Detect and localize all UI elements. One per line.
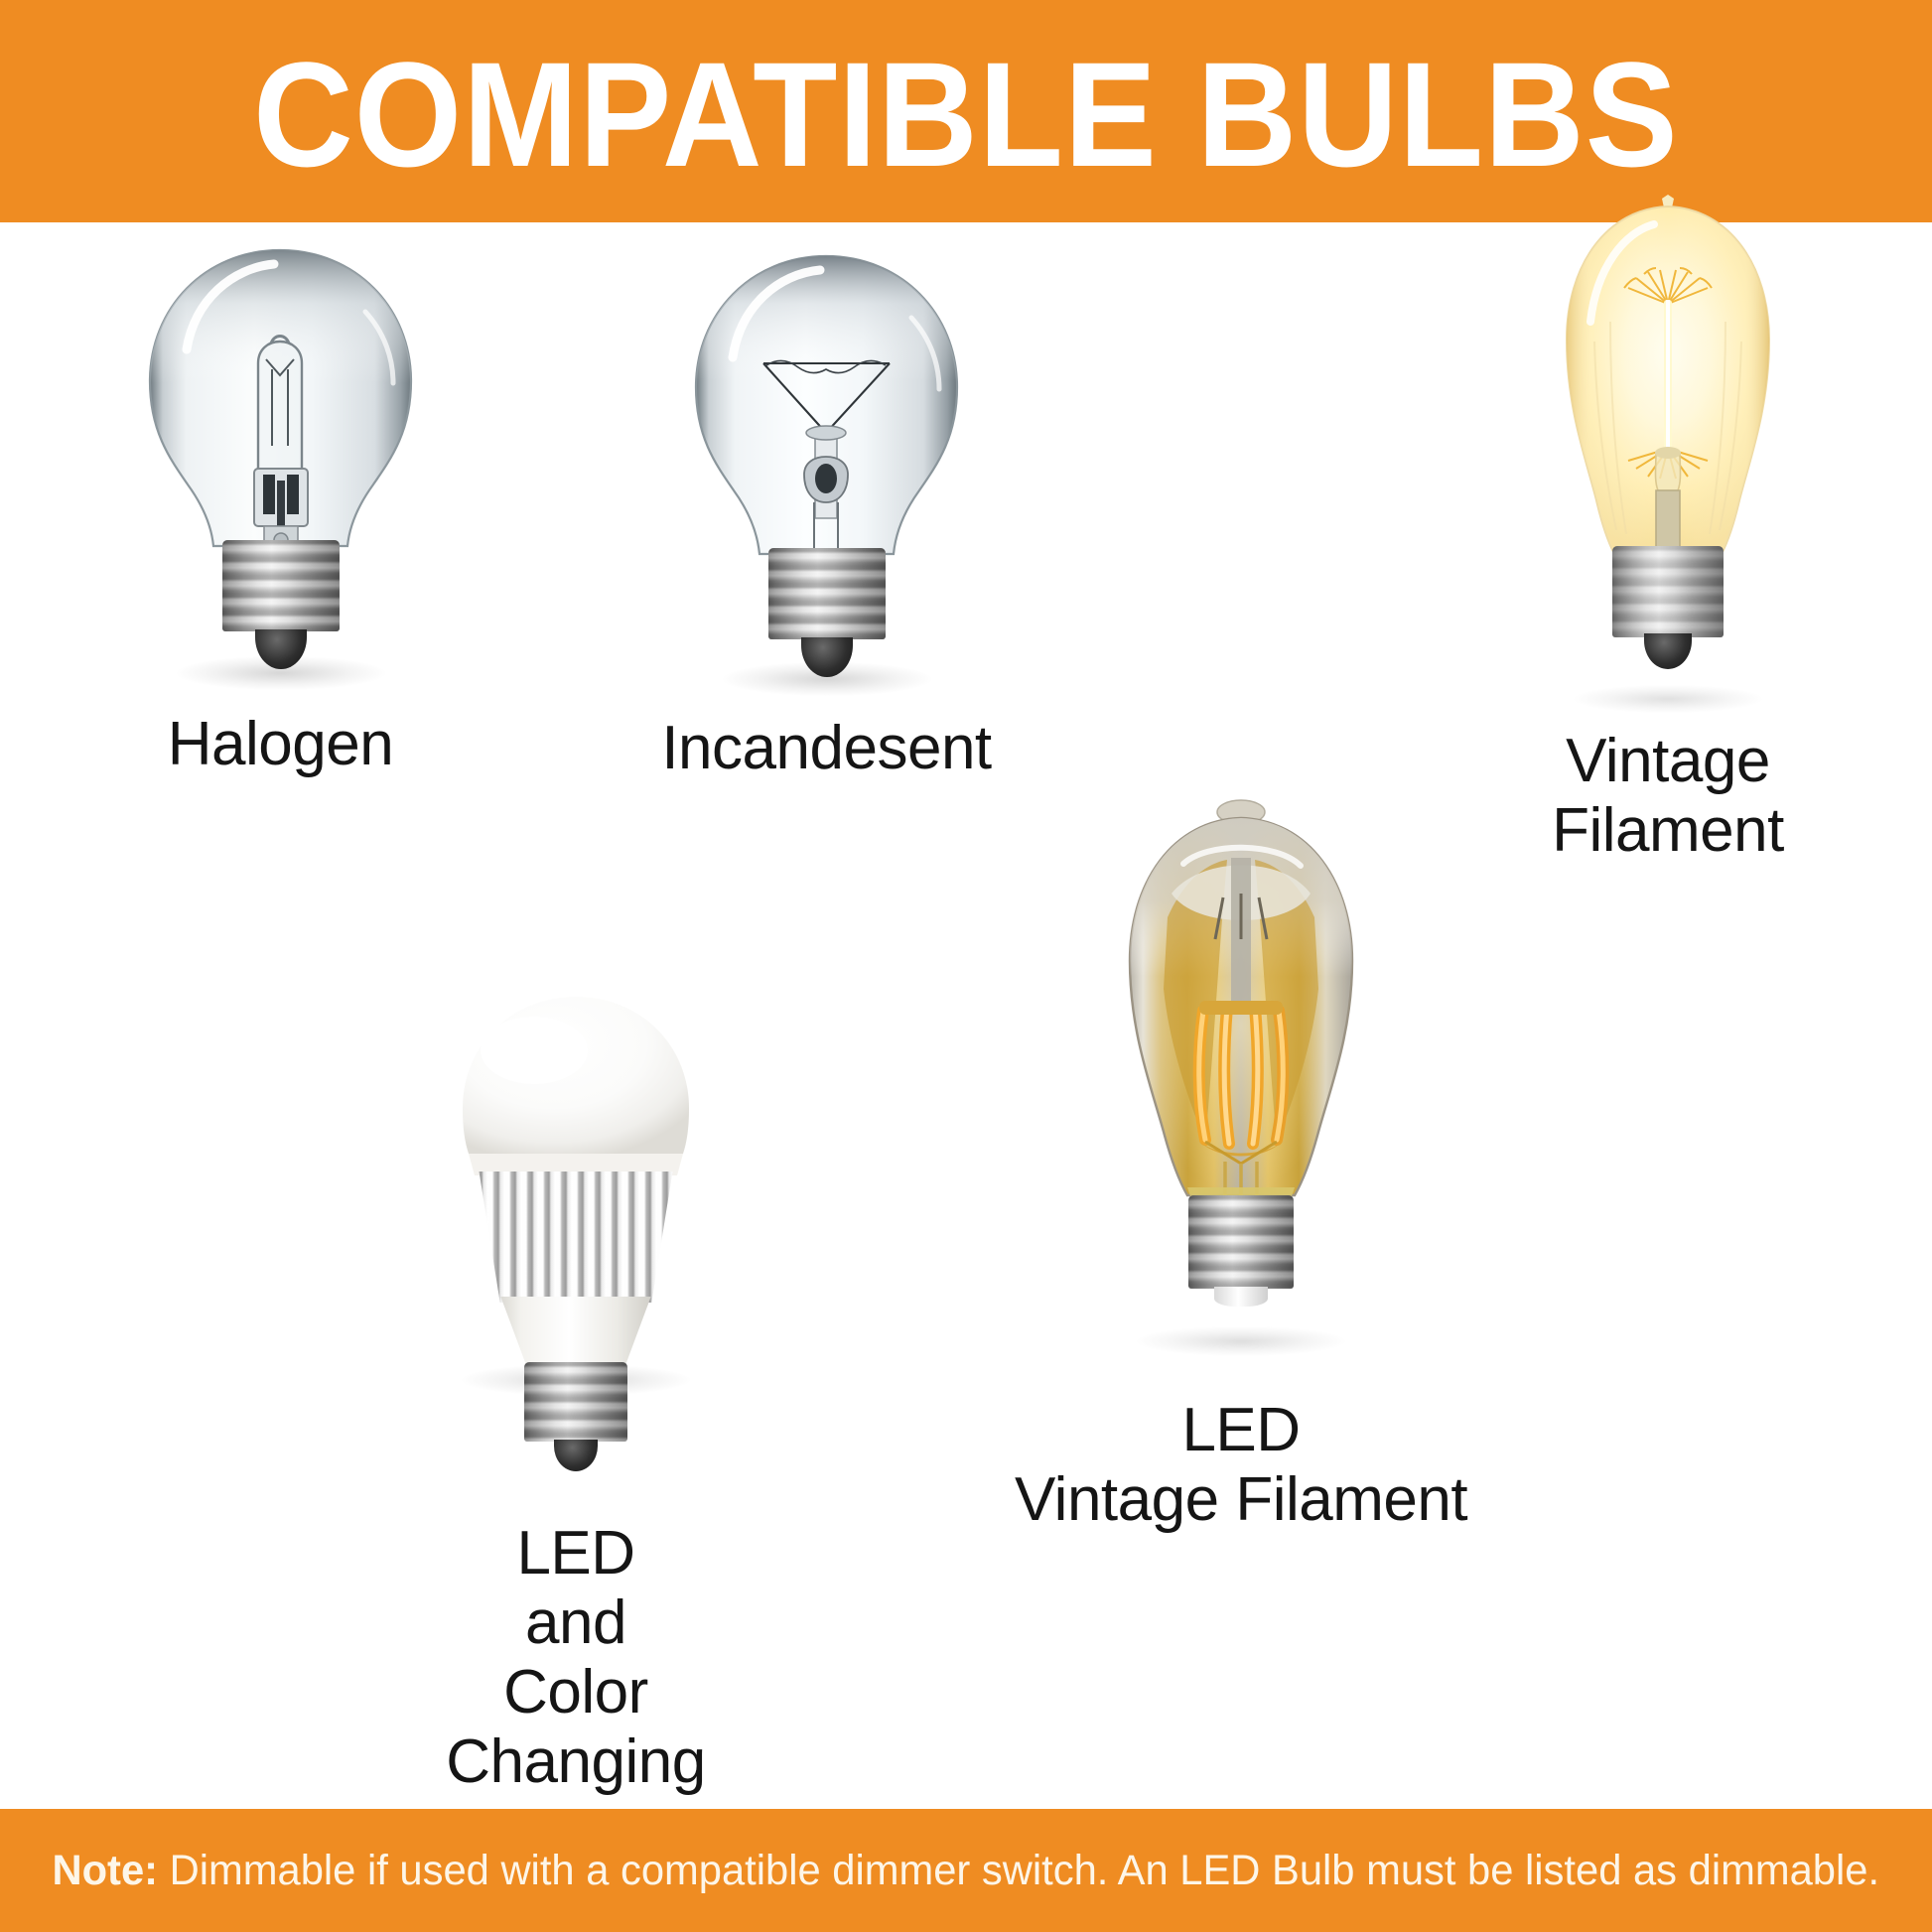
bulb-label-vintage-filament: Vintage Filament [1552, 727, 1784, 866]
base-tip [554, 1440, 598, 1471]
screw-base [1188, 1195, 1294, 1289]
bulb-label-halogen: Halogen [168, 710, 393, 779]
screw-base [222, 540, 340, 631]
bulb-card-led-vintage-filament[interactable]: LED Vintage Filament [993, 798, 1489, 1535]
page-title: COMPATIBLE BULBS [253, 40, 1679, 189]
note-label: Note: [53, 1847, 159, 1894]
screw-base-brass [1612, 546, 1724, 637]
bulb-grid: Halogen [0, 222, 1932, 1809]
bulb-label-incandescent: Incandesent [661, 714, 991, 783]
screw-base [524, 1362, 627, 1442]
bulb-card-led[interactable]: LED and Color Changing [367, 977, 784, 1797]
halogen-bulb-icon [109, 242, 452, 684]
led-vintage-filament-bulb-icon [993, 798, 1489, 1354]
bulb-label-led-vintage-filament: LED Vintage Filament [1015, 1396, 1467, 1535]
screw-base [768, 548, 886, 639]
bulb-card-vintage-filament[interactable]: Vintage Filament [1479, 193, 1857, 866]
header-bar: COMPATIBLE BULBS [0, 0, 1932, 222]
footer-note-bar: Note: Dimmable if used with a compatible… [0, 1809, 1932, 1932]
vintage-filament-bulb-icon [1479, 193, 1857, 709]
bulb-card-halogen[interactable]: Halogen [109, 242, 452, 779]
bulb-card-incandescent[interactable]: Incandesent [655, 248, 998, 783]
incandescent-bulb-icon [655, 248, 998, 690]
note-body: Dimmable if used with a compatible dimme… [170, 1847, 1879, 1894]
footer-note: Note: Dimmable if used with a compatible… [53, 1850, 1880, 1892]
base-tip [1214, 1287, 1268, 1307]
led-bulb-icon [367, 977, 784, 1394]
bulb-label-led: LED and Color Changing [367, 1519, 784, 1797]
heatsink-fins [471, 1172, 681, 1303]
